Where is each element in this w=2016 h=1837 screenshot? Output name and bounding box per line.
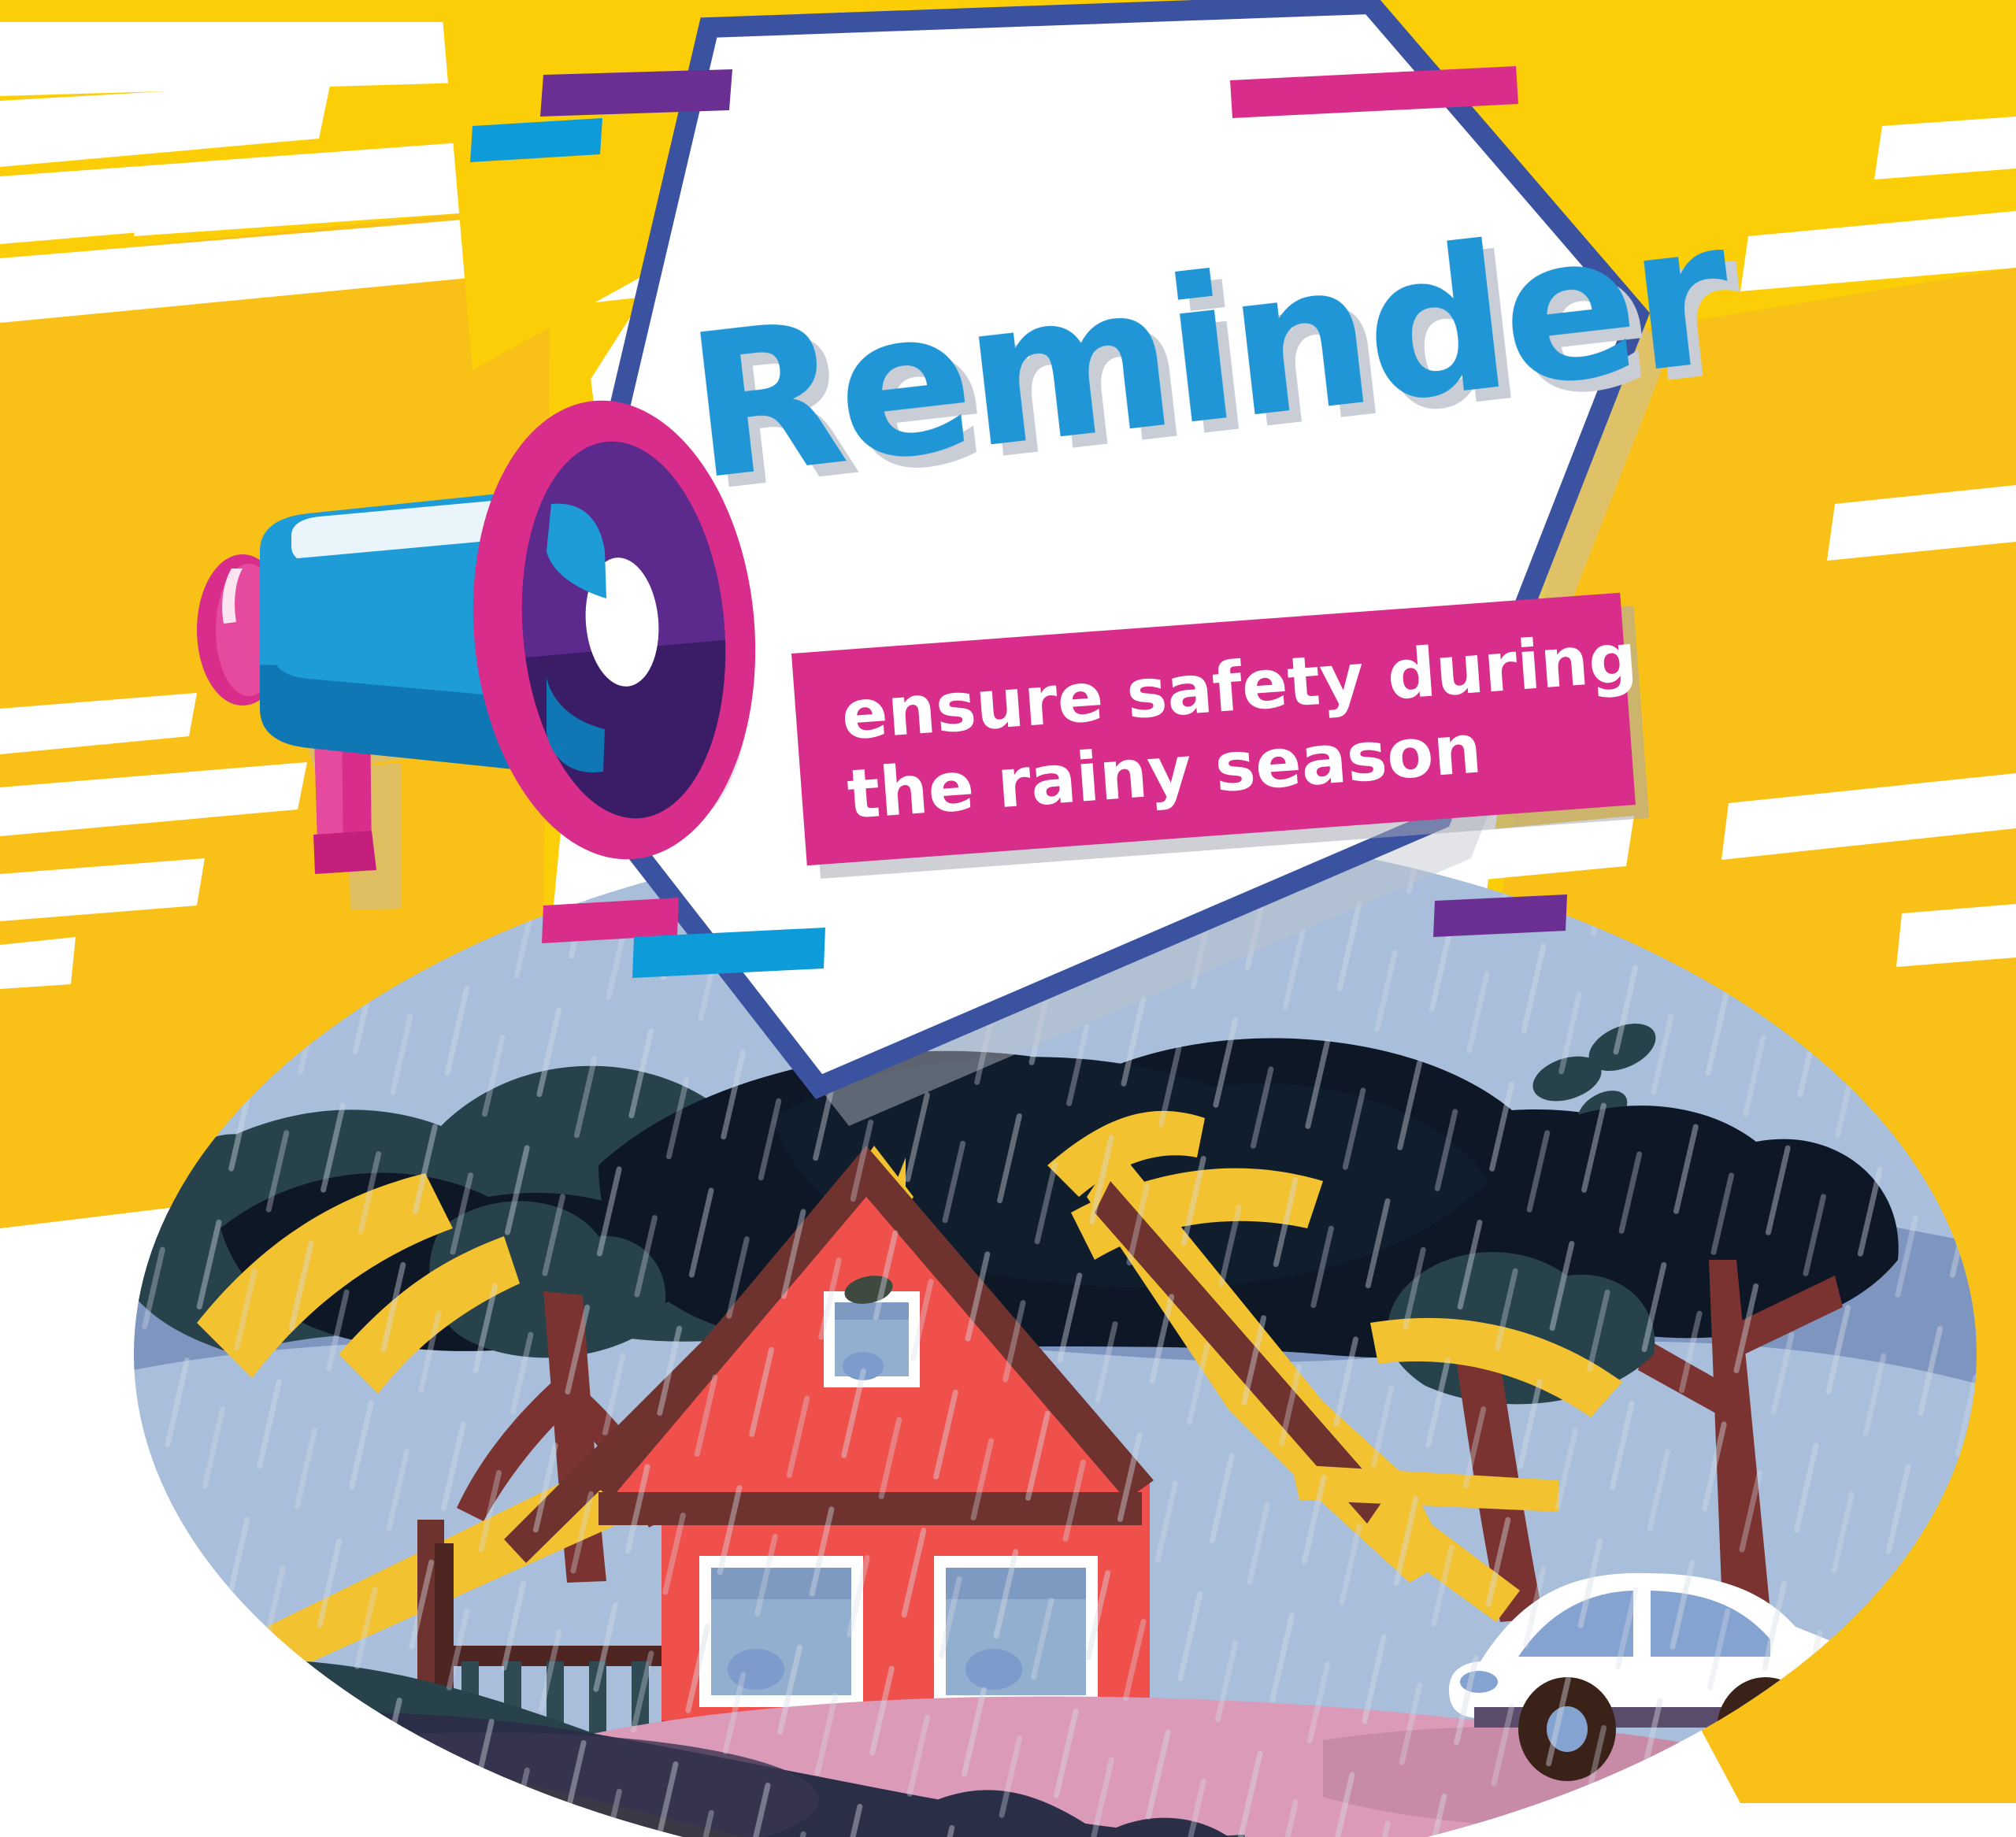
accent-bar-purple-bottom-right (1433, 894, 1567, 937)
accent-bar-purple-top (540, 69, 732, 117)
poster-canvas: Reminder ensure safety during the rainy … (0, 0, 2016, 1837)
poster-artwork (0, 0, 2016, 1837)
